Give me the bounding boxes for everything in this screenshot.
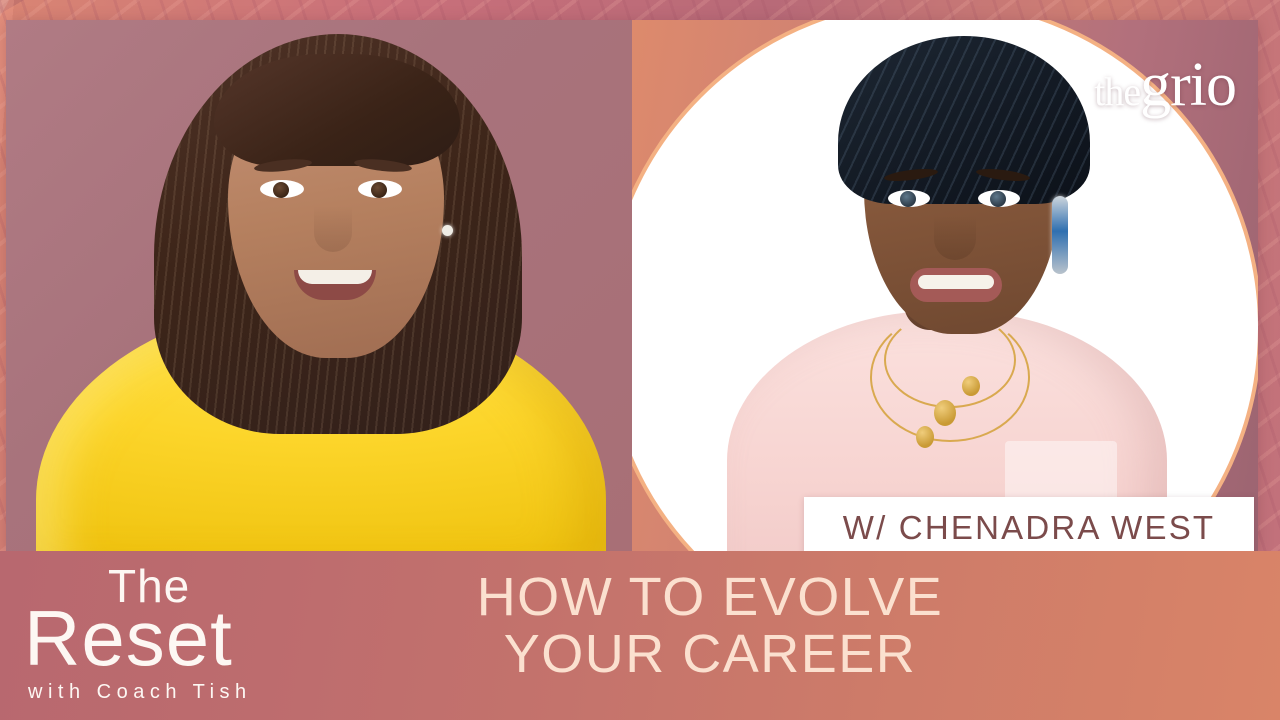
episode-title-line-2: YOUR CAREER: [360, 626, 1060, 683]
host-eye-left: [260, 180, 304, 198]
video-frame[interactable]: thegrio W/ CHENADRA WEST: [6, 20, 1258, 551]
host-video-pane: [6, 20, 632, 551]
episode-title: HOW TO EVOLVE YOUR CAREER: [360, 569, 1060, 683]
host-hair-front: [214, 54, 460, 166]
thegrio-logo[interactable]: thegrio: [1094, 54, 1236, 116]
guest-eye-right: [978, 190, 1020, 207]
show-logo[interactable]: The Reset with Coach Tish: [22, 563, 322, 704]
thegrio-logo-name: grio: [1140, 51, 1236, 119]
episode-title-line-1: HOW TO EVOLVE: [477, 567, 944, 627]
video-thumbnail: thegrio W/ CHENADRA WEST The Reset with …: [0, 0, 1280, 720]
guest-eye-left: [888, 190, 930, 207]
guest-smile: [910, 268, 1002, 302]
guest-name-text: W/ CHENADRA WEST: [843, 509, 1216, 547]
host-eye-right: [358, 180, 402, 198]
guest-necklace-pendant-2: [962, 376, 980, 396]
guest-name-banner: W/ CHENADRA WEST: [804, 497, 1254, 551]
host-earring-icon: [442, 225, 453, 236]
guest-nose: [934, 216, 976, 260]
host-portrait-coach-tish: [6, 20, 632, 551]
host-nose: [314, 206, 352, 252]
guest-hair: [838, 36, 1090, 204]
guest-earring-icon: [1052, 196, 1068, 274]
show-title-line-2: Reset: [24, 603, 322, 675]
bottom-title-bar: The Reset with Coach Tish HOW TO EVOLVE …: [0, 551, 1280, 720]
thegrio-logo-the: the: [1094, 69, 1140, 114]
guest-necklace-pendant-1: [934, 400, 956, 426]
show-subtitle: with Coach Tish: [28, 681, 322, 704]
guest-necklace-pendant-3: [916, 426, 934, 448]
